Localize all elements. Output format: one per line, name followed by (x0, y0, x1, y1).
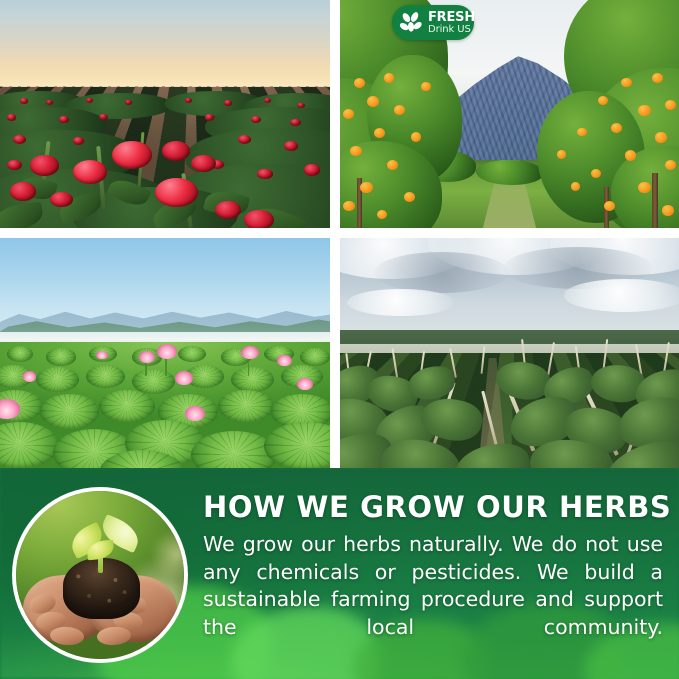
cloud (564, 279, 679, 311)
orange-fruit (367, 96, 379, 107)
rose-bloom (290, 119, 301, 126)
leaf-cluster-icon (398, 10, 424, 36)
orange-fruit (571, 182, 580, 191)
rose-bloom (185, 98, 192, 103)
rose-bloom (162, 141, 190, 160)
orange-fruit (638, 105, 650, 116)
brand-wordmark: FRESH Drink US (428, 11, 475, 35)
lotus-leaf (99, 390, 155, 422)
rose-bloom-hero (112, 141, 152, 168)
caption-body: We grow our herbs naturally. We do not u… (203, 531, 663, 668)
rose-bloom (10, 182, 36, 200)
grid-divider-horizontal (0, 228, 679, 238)
caption-heading: HOW WE GROW OUR HERBS (203, 492, 663, 523)
cloud (374, 252, 510, 293)
lotus-leaf (7, 346, 33, 362)
photo-grid: FRESH Drink US (0, 0, 679, 468)
orange-fruit (384, 73, 394, 83)
caption-text-block: HOW WE GROW OUR HERBS We grow our herbs … (203, 492, 663, 669)
lotus-flower (157, 344, 177, 359)
rose-bloom (59, 116, 68, 122)
rose-bloom (257, 169, 272, 179)
photo-lotus-pond (0, 238, 330, 468)
orchard-tree (476, 160, 544, 185)
rose-bloom (13, 135, 26, 144)
photo-vine-field (340, 238, 679, 468)
lotus-flower (23, 371, 36, 381)
orange-fruit (404, 192, 415, 202)
lotus-flower (241, 346, 259, 359)
photo-citrus-orchard: FRESH Drink US (340, 0, 679, 228)
lotus-flower (96, 351, 108, 360)
orange-fruit (350, 146, 362, 156)
lotus-leaf (86, 365, 126, 388)
rose-bloom (86, 98, 93, 103)
rose-bloom (50, 192, 73, 208)
orange-fruit (360, 182, 372, 193)
orange-fruit (577, 128, 586, 137)
orange-fruit (354, 78, 366, 88)
lotus-flower (277, 355, 292, 366)
lotus-leaf (36, 367, 79, 392)
lotus-leaf (46, 348, 76, 365)
orange-fruit (394, 105, 405, 115)
orange-fruit (604, 201, 615, 211)
orange-fruit (343, 201, 355, 211)
rose-bloom (205, 114, 215, 121)
orange-fruit (655, 132, 667, 142)
lotus-leaf (218, 390, 274, 422)
photo-rose-field (0, 0, 330, 228)
rose-bloom (304, 164, 321, 175)
rose-bloom (125, 100, 132, 105)
rose-bloom (30, 155, 60, 176)
cloud (347, 289, 455, 317)
orange-fruit (421, 82, 430, 91)
orange-fruit (598, 96, 608, 106)
caption-circle-photo (12, 487, 188, 663)
rose-bloom (20, 98, 28, 103)
lotus-flower (139, 351, 156, 363)
orange-fruit (621, 78, 631, 88)
orange-fruit (387, 160, 398, 170)
infographic-canvas: FRESH Drink US (0, 0, 679, 679)
rose-bloom-hero (73, 160, 108, 184)
orange-fruit (557, 150, 566, 158)
brand-name-primary: FRESH (428, 11, 475, 24)
rose-bloom (238, 135, 251, 144)
lotus-leaf (40, 394, 99, 429)
lotus-leaf (231, 367, 274, 392)
rose-bloom (224, 100, 232, 105)
brand-name-secondary: Drink US (428, 25, 475, 35)
lotus-leaf (300, 348, 330, 365)
rose-bloom (251, 116, 261, 123)
rose-bloom (215, 201, 241, 219)
orange-fruit (638, 182, 650, 193)
rose-bloom (99, 114, 108, 120)
brand-badge[interactable]: FRESH Drink US (392, 5, 474, 40)
orchard-trunk (652, 173, 658, 228)
lotus-flower (0, 399, 20, 419)
rose-bloom (244, 210, 274, 228)
rose-bloom (7, 114, 17, 121)
lotus-flower (297, 378, 313, 390)
orange-fruit (625, 150, 637, 160)
orange-fruit (662, 205, 674, 215)
orange-fruit (665, 160, 676, 170)
lotus-flower (185, 406, 205, 421)
rose-bloom (7, 160, 22, 170)
rose-bloom (297, 103, 305, 108)
